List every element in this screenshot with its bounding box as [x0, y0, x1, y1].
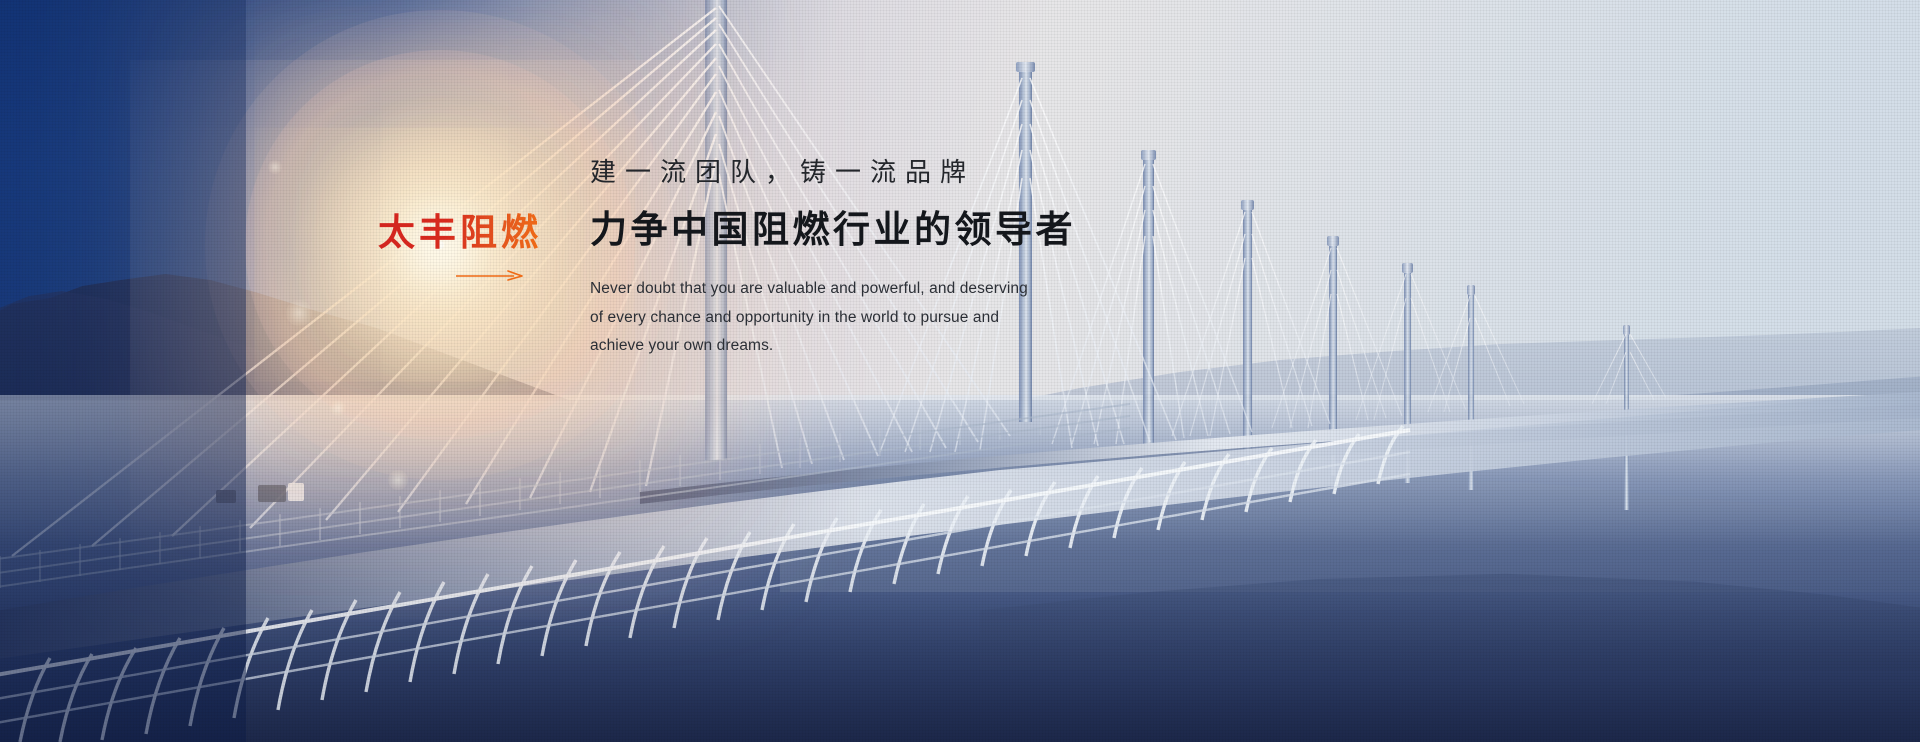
banner-content: 太丰阻燃 建一流团队，铸一流品牌 力争中国阻燃行业的领导者 Never doub… — [0, 0, 1920, 742]
banner-tagline: 建一流团队，铸一流品牌 — [590, 155, 1290, 190]
headline-block: 建一流团队，铸一流品牌 力争中国阻燃行业的领导者 Never doubt tha… — [590, 155, 1290, 360]
banner-subtitle-english: Never doubt that you are valuable and po… — [590, 275, 1042, 360]
brand-logo-text: 太丰阻燃 — [378, 213, 538, 254]
brand-logo[interactable]: 太丰阻燃 — [378, 213, 538, 281]
hero-banner: 太丰阻燃 建一流团队，铸一流品牌 力争中国阻燃行业的领导者 Never doub… — [0, 0, 1920, 742]
banner-headline: 力争中国阻燃行业的领导者 — [590, 207, 1290, 253]
arrow-right-icon — [456, 269, 524, 281]
